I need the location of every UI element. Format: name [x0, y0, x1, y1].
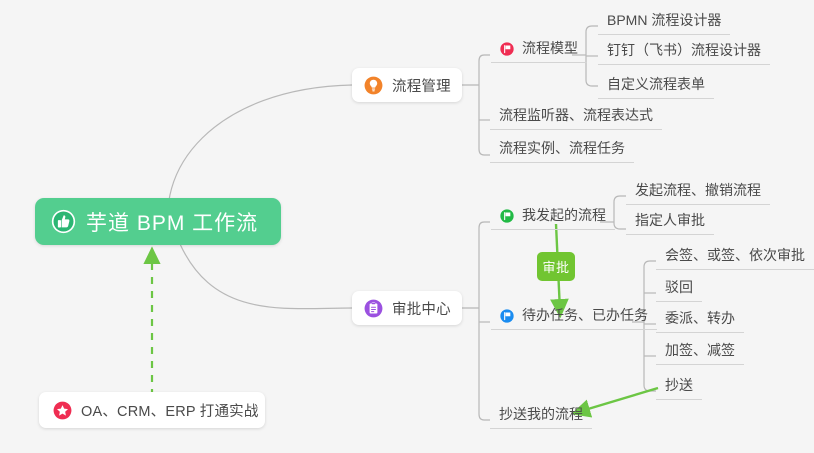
leaf-node-reject[interactable]: 驳回 [656, 279, 702, 302]
leaf-node-cc[interactable]: 抄送 [656, 377, 702, 400]
leaf-node-assignee-approval[interactable]: 指定人审批 [626, 212, 714, 235]
leaf-node-cc-to-me[interactable]: 抄送我的流程 [490, 406, 592, 429]
leaf-node-process-instance[interactable]: 流程实例、流程任务 [490, 140, 634, 163]
leaf-node-countersign[interactable]: 会签、或签、依次审批 [656, 247, 814, 270]
thumbs-up-icon [51, 209, 76, 234]
leaf-node-custom-form[interactable]: 自定义流程表单 [598, 76, 714, 99]
sub-label-todo-done-tasks: 待办任务、已办任务 [522, 307, 648, 324]
sub-node-my-initiated[interactable]: 我发起的流程 [491, 207, 615, 230]
leaf-node-add-remove-sign[interactable]: 加签、减签 [656, 342, 744, 365]
flag-icon [500, 309, 514, 323]
flag-icon [500, 209, 514, 223]
annotation-label-integration: OA、CRM、ERP 打通实战 [81, 400, 259, 421]
leaf-node-process-listener[interactable]: 流程监听器、流程表达式 [490, 107, 662, 130]
leaf-node-start-cancel-process[interactable]: 发起流程、撤销流程 [626, 182, 770, 205]
branch-label-process-management: 流程管理 [392, 75, 451, 96]
leaf-node-bpmn-designer[interactable]: BPMN 流程设计器 [598, 12, 730, 35]
approval-badge[interactable]: 审批 [537, 252, 575, 281]
branch-node-process-management[interactable]: 流程管理 [352, 68, 462, 102]
clipboard-icon [364, 299, 383, 318]
root-node[interactable]: 芋道 BPM 工作流 [35, 198, 281, 245]
sub-node-process-model[interactable]: 流程模型 [491, 40, 587, 63]
lightbulb-icon [364, 76, 383, 95]
leaf-node-dingtalk-designer[interactable]: 钉钉（飞书）流程设计器 [598, 42, 770, 65]
branch-node-approval-center[interactable]: 审批中心 [352, 291, 462, 325]
sub-label-process-model: 流程模型 [522, 40, 578, 57]
mindmap-canvas[interactable]: 芋道 BPM 工作流 流程管理 流程模型 BPMN 流程设计器 钉钉（飞书）流程… [0, 0, 814, 453]
root-label: 芋道 BPM 工作流 [86, 207, 258, 237]
branch-label-approval-center: 审批中心 [392, 298, 451, 319]
sub-label-my-initiated: 我发起的流程 [522, 207, 606, 224]
flag-icon [500, 42, 514, 56]
sub-node-todo-done-tasks[interactable]: 待办任务、已办任务 [491, 307, 657, 330]
star-icon [53, 401, 72, 420]
annotation-node-integration[interactable]: OA、CRM、ERP 打通实战 [39, 392, 265, 428]
leaf-node-delegate-transfer[interactable]: 委派、转办 [656, 310, 744, 333]
